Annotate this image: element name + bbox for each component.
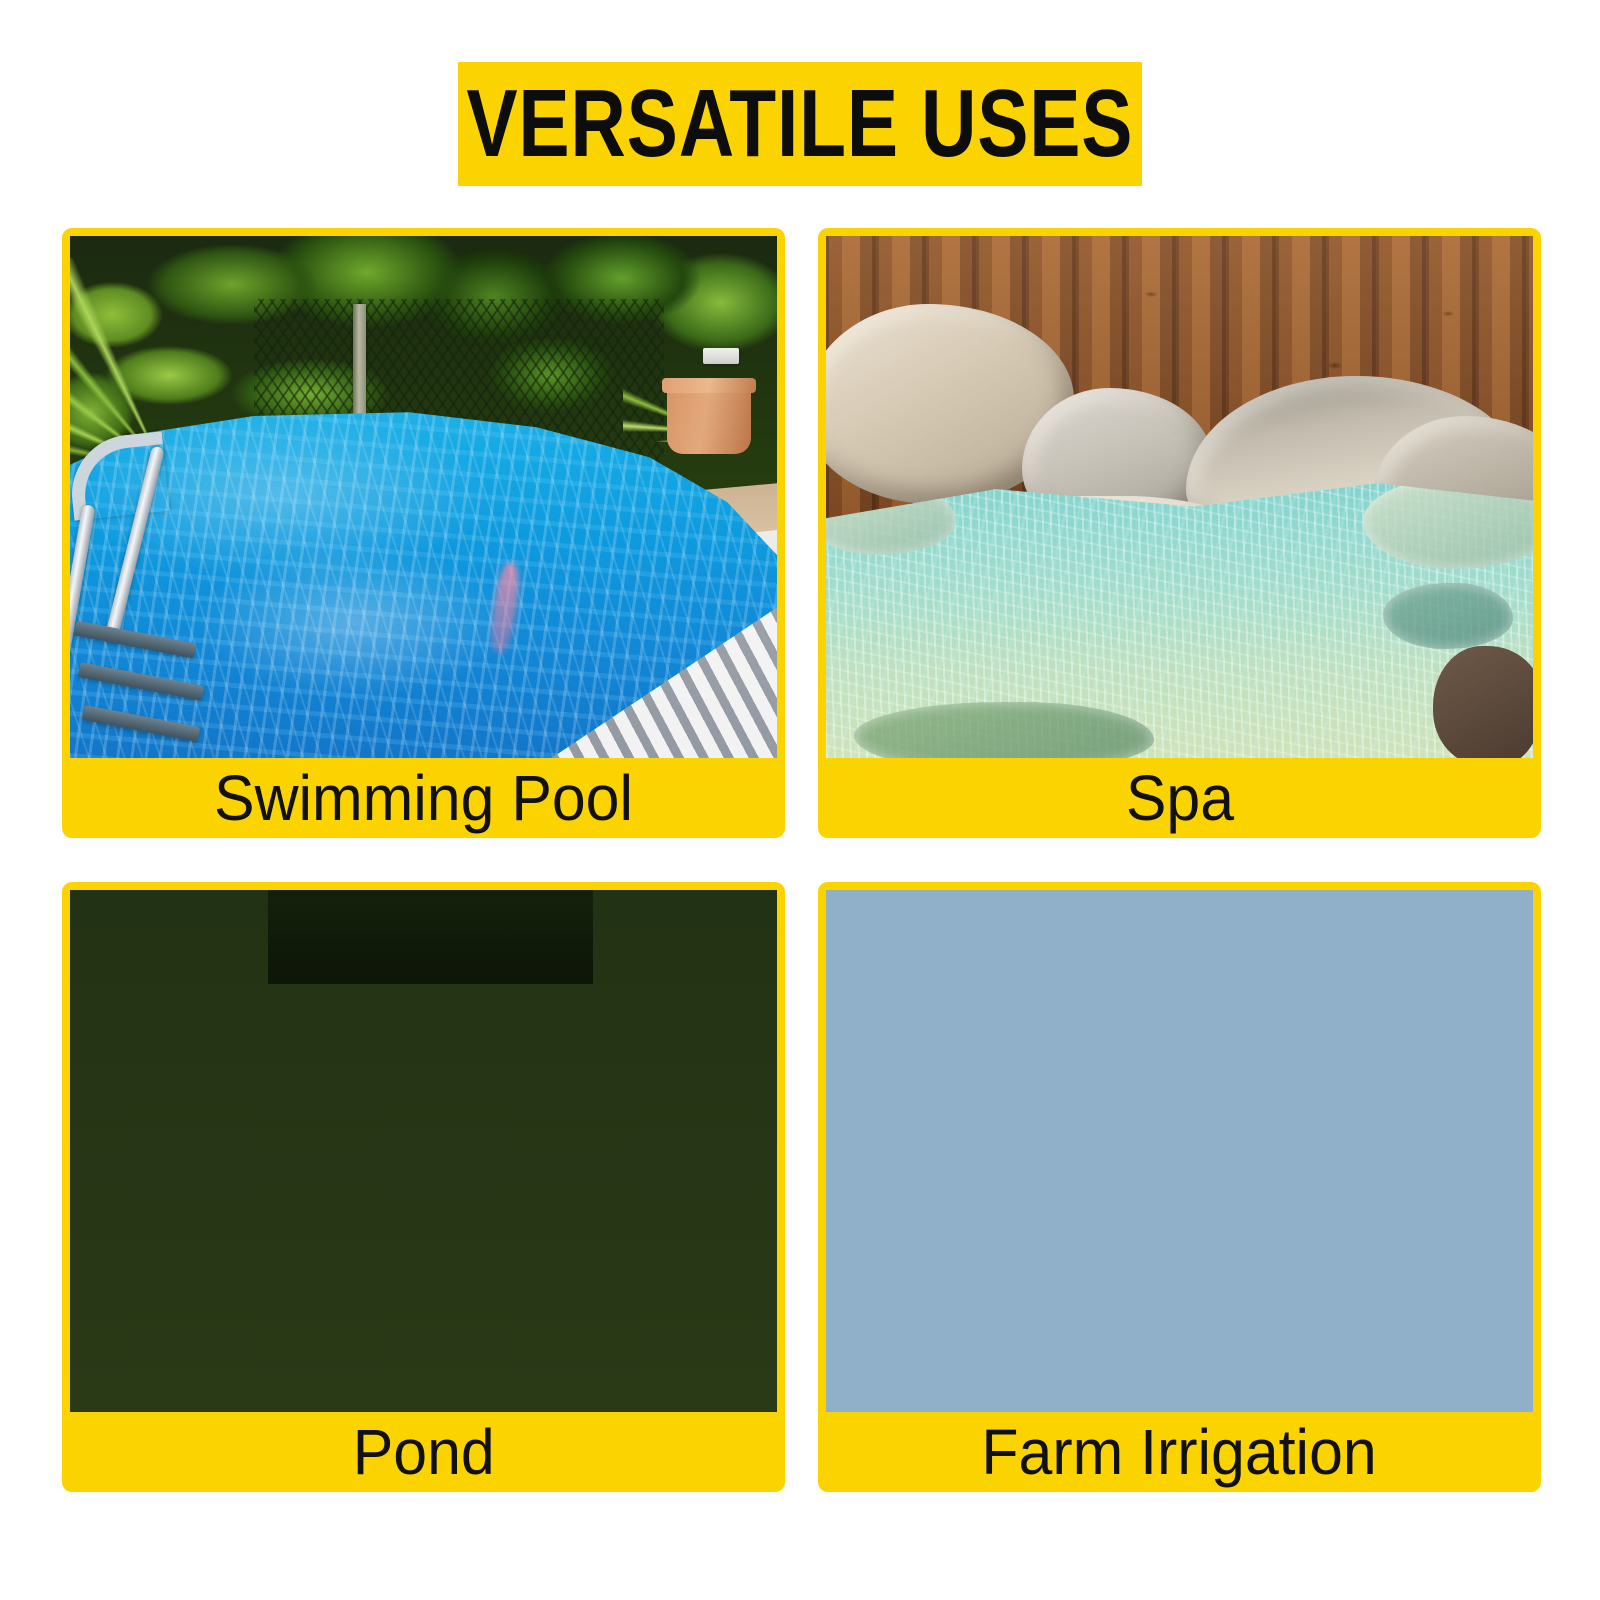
- photo-farm-irrigation: [826, 890, 1533, 1412]
- caption-label: Swimming Pool: [214, 766, 633, 830]
- page-title: VERSATILE USES: [467, 76, 1134, 172]
- caption-label: Farm Irrigation: [982, 1420, 1377, 1484]
- header-banner: VERSATILE USES: [458, 62, 1142, 186]
- photo-spa: [826, 236, 1533, 758]
- submerged-rock: [1383, 583, 1513, 649]
- use-case-grid: Swimming Pool: [62, 228, 1540, 1542]
- pond-trees: [70, 890, 777, 1026]
- terracotta-pot: [667, 386, 751, 454]
- pool-ladder: [76, 522, 254, 748]
- tile-swimming-pool[interactable]: Swimming Pool: [62, 228, 785, 838]
- versatile-uses-infographic: VERSATILE USES: [0, 0, 1600, 1600]
- caption-label: Spa: [1125, 766, 1233, 830]
- ladder-step: [82, 705, 201, 742]
- tile-pond[interactable]: Pond: [62, 882, 785, 1492]
- pool-skimmer: [703, 348, 739, 364]
- foreground-rock: [1433, 646, 1533, 758]
- tile-spa[interactable]: Spa: [818, 228, 1541, 838]
- ladder-step: [74, 620, 197, 658]
- photo-pond: [70, 890, 777, 1412]
- spa-water: [826, 466, 1533, 758]
- photo-swimming-pool: [70, 236, 777, 758]
- caption-farm-irrigation: Farm Irrigation: [826, 1412, 1533, 1492]
- caption-swimming-pool: Swimming Pool: [70, 758, 777, 838]
- caption-pond: Pond: [70, 1412, 777, 1492]
- tile-farm-irrigation[interactable]: Farm Irrigation: [818, 882, 1541, 1492]
- caption-spa: Spa: [826, 758, 1533, 838]
- ladder-step: [78, 662, 205, 701]
- caption-label: Pond: [353, 1420, 495, 1484]
